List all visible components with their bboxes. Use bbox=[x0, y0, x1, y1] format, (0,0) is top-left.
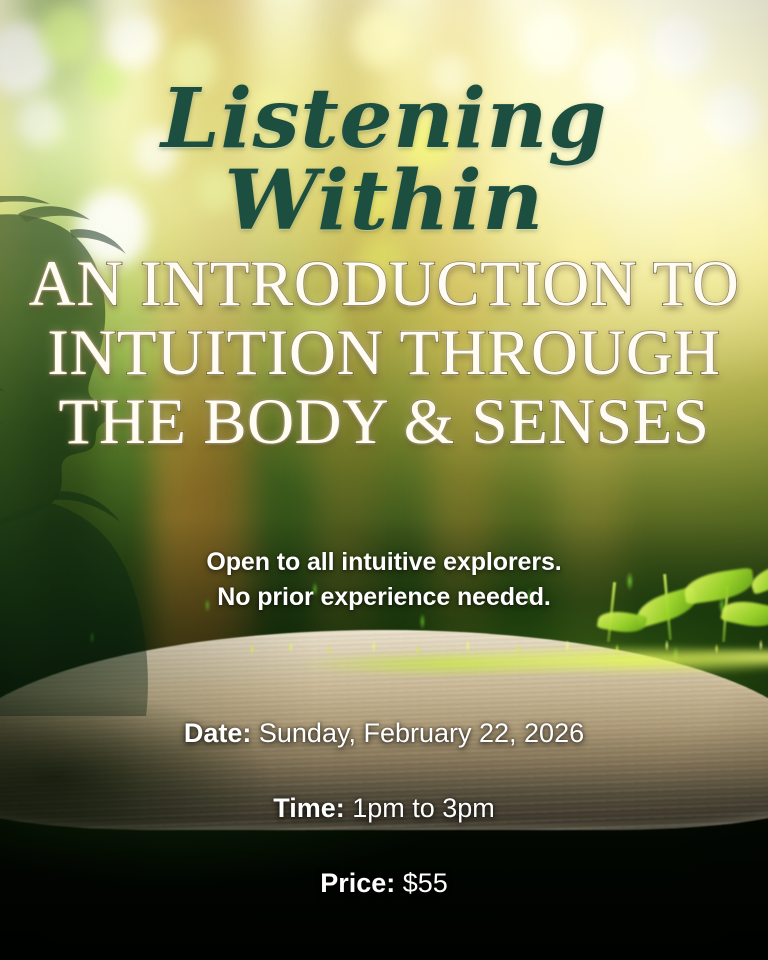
detail-row-date: Date: Sunday, February 22, 2026 bbox=[0, 718, 768, 749]
headline-line-2: INTUITION THROUGH bbox=[0, 319, 768, 388]
date-value: Sunday, February 22, 2026 bbox=[259, 718, 584, 748]
event-poster: Listening Within AN INTRODUCTION TO INTU… bbox=[0, 0, 768, 960]
tagline-line-1: Open to all intuitive explorers. bbox=[0, 545, 768, 580]
date-label: Date: bbox=[184, 718, 259, 748]
time-value: 1pm to 3pm bbox=[352, 793, 495, 823]
time-label: Time: bbox=[273, 793, 352, 823]
poster-headline: AN INTRODUCTION TO INTUITION THROUGH THE… bbox=[0, 250, 768, 457]
headline-line-3: THE BODY & SENSES bbox=[0, 388, 768, 457]
event-details: Date: Sunday, February 22, 2026 Time: 1p… bbox=[0, 718, 768, 899]
poster-tagline: Open to all intuitive explorers. No prio… bbox=[0, 545, 768, 614]
headline-line-1: AN INTRODUCTION TO bbox=[0, 250, 768, 319]
tagline-line-2: No prior experience needed. bbox=[0, 580, 768, 615]
poster-content: Listening Within AN INTRODUCTION TO INTU… bbox=[0, 0, 768, 960]
price-value: $55 bbox=[403, 868, 448, 898]
detail-row-price: Price: $55 bbox=[0, 868, 768, 899]
price-label: Price: bbox=[320, 868, 403, 898]
detail-row-time: Time: 1pm to 3pm bbox=[0, 793, 768, 824]
poster-title: Listening Within bbox=[0, 78, 768, 242]
